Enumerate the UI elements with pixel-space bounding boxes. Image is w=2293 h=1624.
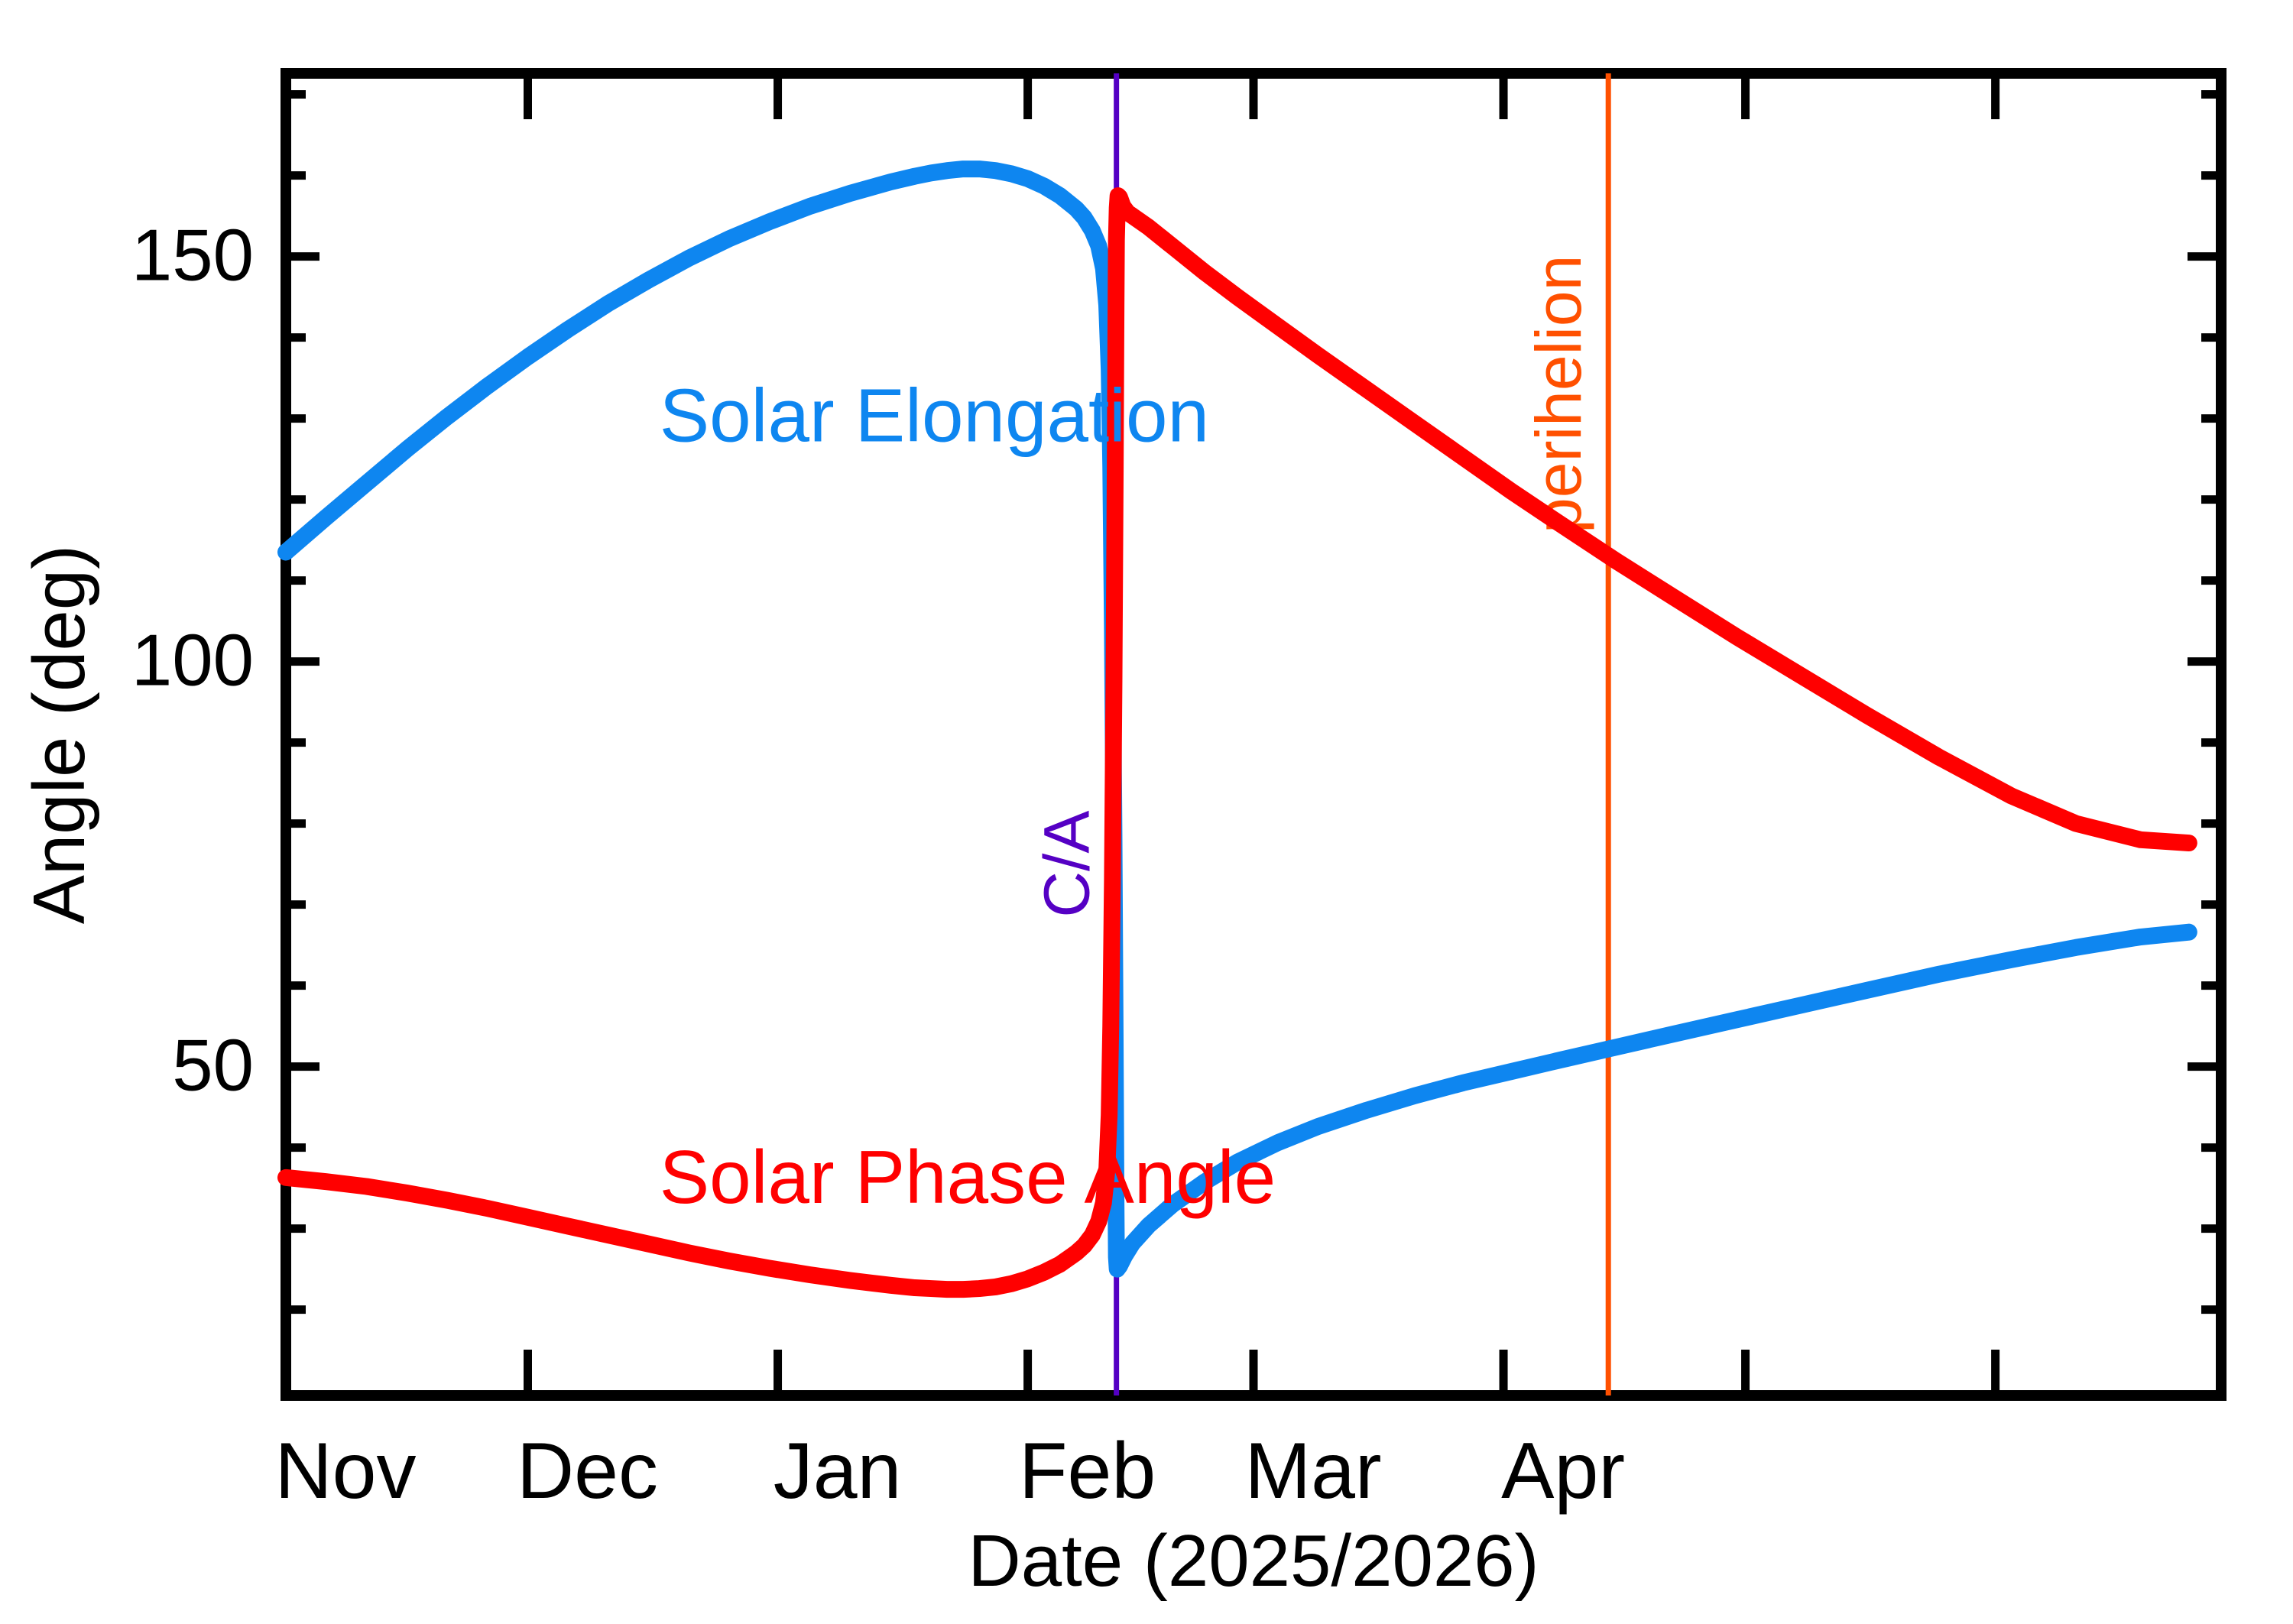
x-tick-label-Nov: Nov — [275, 1427, 417, 1515]
x-tick-label-Jan: Jan — [774, 1427, 902, 1515]
y-tick-label-150: 150 — [131, 215, 254, 297]
vline-label-c-a: C/A — [1031, 811, 1103, 918]
chart-svg: 15010050NovDecJanFebMarAprC/AperihelionS… — [0, 0, 2293, 1624]
chart-root: 15010050NovDecJanFebMarAprC/AperihelionS… — [0, 0, 2293, 1624]
y-tick-label-100: 100 — [131, 620, 254, 702]
x-tick-label-Feb: Feb — [1019, 1427, 1156, 1515]
vline-label-perihelion: perihelion — [1523, 255, 1594, 533]
x-tick-label-Dec: Dec — [517, 1427, 658, 1515]
y-tick-label-50: 50 — [172, 1025, 254, 1107]
series-label-solar-elongation: Solar Elongation — [660, 374, 1209, 458]
series-line-solar-phase-angle — [286, 196, 2189, 1289]
series-label-solar-phase-angle: Solar Phase Angle — [660, 1135, 1276, 1219]
series-line-solar-elongation — [286, 169, 2189, 1269]
x-tick-label-Mar: Mar — [1244, 1427, 1381, 1515]
x-tick-label-Apr: Apr — [1501, 1427, 1625, 1515]
